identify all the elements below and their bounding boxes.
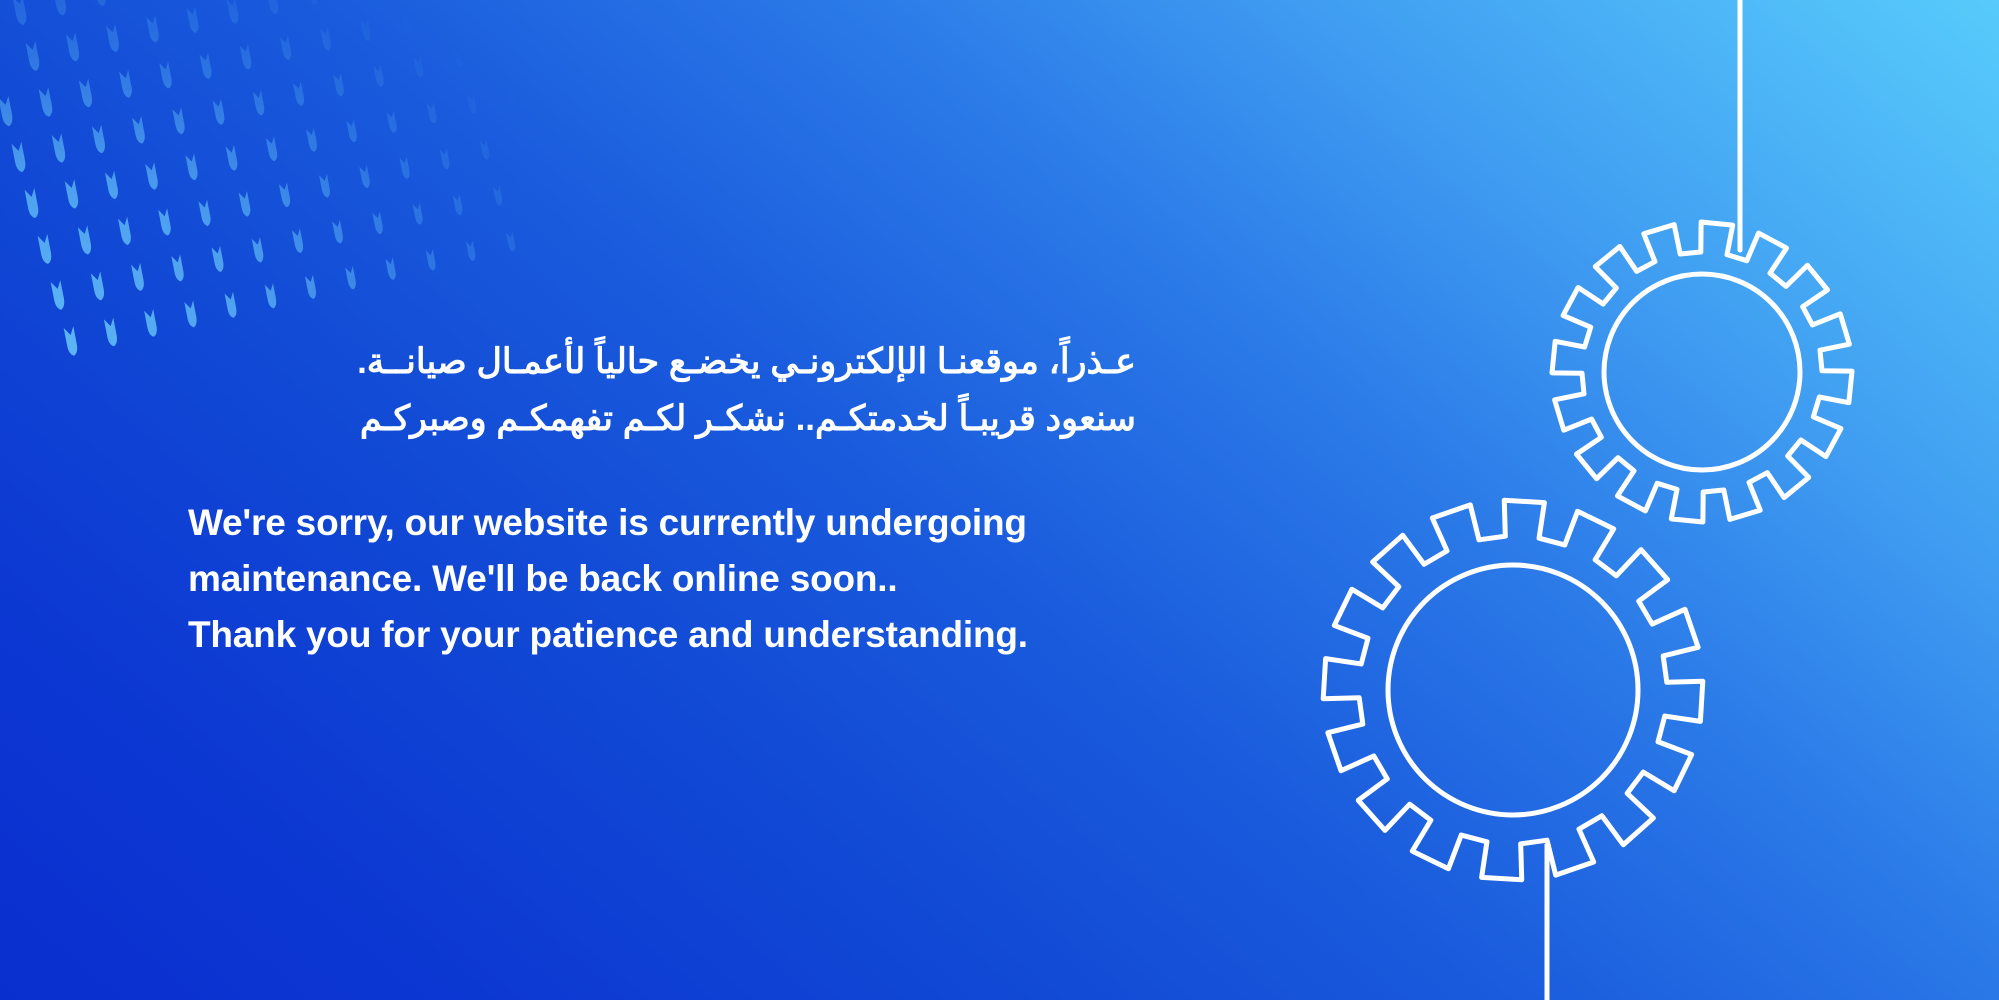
petal-chevron-icon	[144, 309, 158, 338]
maintenance-message: عـذراً، موقعنـا الإلكترونـي يخضـع حالياً…	[188, 333, 1148, 663]
petal-chevron-icon	[507, 85, 517, 105]
petal-chevron-icon	[305, 275, 318, 300]
petal-chevron-icon	[359, 165, 371, 189]
petal-chevron-icon	[401, 10, 412, 33]
petal-chevron-icon	[118, 217, 132, 246]
petal-chevron-icon	[185, 154, 199, 182]
petal-chevron-icon	[92, 125, 107, 154]
petal-chevron-icon	[240, 44, 253, 70]
petal-chevron-icon	[119, 70, 133, 99]
petal-chevron-icon	[345, 266, 357, 290]
petal-chevron-icon	[25, 188, 40, 219]
petal-chevron-icon	[373, 64, 385, 87]
petal-chevron-icon	[453, 194, 464, 216]
petal-chevron-icon	[227, 0, 240, 24]
petal-chevron-icon	[226, 145, 239, 172]
petal-chevron-icon	[253, 90, 266, 116]
petal-chevron-icon	[266, 136, 279, 162]
petal-chevron-icon	[104, 318, 119, 348]
petal-chevron-icon	[239, 191, 252, 217]
petal-chevron-icon	[426, 249, 437, 271]
petal-chevron-icon	[39, 87, 54, 118]
petal-chevron-icon	[386, 111, 397, 134]
petal-chevron-icon	[279, 182, 292, 208]
english-message-line-1: We're sorry, our website is currently un…	[188, 495, 1148, 551]
petal-chevron-icon	[467, 93, 478, 114]
petal-chevron-icon	[346, 119, 358, 143]
petal-chevron-icon	[53, 0, 68, 16]
petal-chevron-icon	[292, 229, 305, 254]
petal-chevron-icon	[198, 200, 212, 227]
petal-chevron-icon	[385, 257, 397, 280]
petal-chevron-icon	[184, 300, 198, 328]
petal-chevron-icon	[333, 73, 345, 97]
petal-chevron-icon	[145, 162, 159, 190]
petal-chevron-icon	[66, 32, 81, 62]
lower-gear-outline	[1323, 500, 1703, 880]
petal-chevron-icon	[493, 186, 503, 207]
english-message-line-2: maintenance. We'll be back online soon..	[188, 551, 1148, 607]
petal-chevron-icon	[320, 27, 332, 51]
petal-chevron-icon	[225, 292, 238, 319]
upper-gear-outline	[1552, 222, 1852, 522]
petal-chevron-icon	[372, 211, 384, 235]
petal-chevron-icon	[91, 271, 106, 301]
petal-chevron-icon	[265, 283, 278, 309]
petal-chevron-icon	[293, 82, 305, 107]
petal-chevron-icon	[172, 107, 186, 135]
petal-chevron-icon	[159, 61, 173, 89]
petal-chevron-icon	[360, 18, 372, 41]
petal-chevron-icon	[93, 0, 108, 7]
arabic-message-line-1: عـذراً، موقعنـا الإلكترونـي يخضـع حالياً…	[188, 333, 1136, 390]
petal-chevron-icon	[307, 0, 319, 5]
english-message-line-3: Thank you for your patience and understa…	[188, 607, 1148, 663]
petal-chevron-icon	[506, 232, 516, 253]
petal-chevron-icon	[38, 234, 53, 265]
petal-chevron-icon	[132, 116, 146, 145]
petal-chevron-icon	[13, 0, 28, 26]
arabic-message-line-2: سنعود قريبـاً لخدمتكـم.. نشكـر لكـم تفهم…	[188, 390, 1136, 447]
petal-chevron-icon	[252, 237, 265, 263]
petal-chevron-icon	[454, 47, 465, 68]
petal-chevron-icon	[400, 157, 411, 180]
petal-chevron-icon	[105, 171, 120, 200]
petal-chevron-icon	[413, 203, 424, 226]
petal-chevron-icon	[0, 96, 14, 127]
petal-chevron-icon	[65, 179, 80, 209]
petal-chevron-icon	[427, 102, 438, 124]
petal-chevron-icon	[64, 326, 79, 356]
petal-chevron-icon	[131, 263, 145, 292]
petal-chevron-icon	[79, 79, 94, 109]
petal-chevron-icon	[211, 246, 224, 273]
petal-chevron-icon	[186, 7, 200, 34]
petal-chevron-icon	[440, 148, 451, 170]
arabic-message: عـذراً، موقعنـا الإلكترونـي يخضـع حالياً…	[188, 333, 1136, 447]
petal-chevron-icon	[306, 128, 318, 153]
petal-chevron-icon	[466, 240, 477, 262]
maintenance-page: عـذراً، موقعنـا الإلكترونـي يخضـع حالياً…	[0, 0, 1999, 1000]
petal-chevron-icon	[481, 0, 491, 13]
petal-chevron-icon	[213, 99, 226, 126]
petal-chevron-icon	[52, 133, 67, 163]
petal-chevron-icon	[494, 39, 504, 60]
decorative-petal-pattern	[0, 0, 520, 370]
petal-chevron-icon	[267, 0, 280, 15]
petal-chevron-icon	[414, 56, 425, 78]
english-message: We're sorry, our website is currently un…	[188, 495, 1148, 663]
petal-chevron-icon	[171, 254, 185, 282]
petal-chevron-icon	[332, 220, 344, 244]
petal-chevron-icon	[158, 208, 172, 236]
petal-chevron-icon	[0, 50, 1, 82]
petal-chevron-icon	[146, 15, 160, 43]
petal-chevron-icon	[51, 280, 66, 311]
petal-field	[0, 0, 520, 357]
petal-chevron-icon	[280, 36, 293, 61]
petal-chevron-icon	[441, 1, 452, 23]
petal-chevron-icon	[200, 53, 213, 80]
petal-chevron-icon	[319, 174, 331, 199]
petal-chevron-icon	[11, 142, 27, 173]
lower-gear-inner-circle	[1388, 565, 1638, 815]
gear-illustration	[1299, 0, 1999, 1000]
upper-gear-inner-circle	[1604, 274, 1800, 470]
petal-chevron-icon	[106, 24, 120, 53]
petal-chevron-icon	[26, 41, 41, 72]
petal-chevron-icon	[480, 139, 490, 160]
petal-chevron-icon	[78, 225, 93, 255]
